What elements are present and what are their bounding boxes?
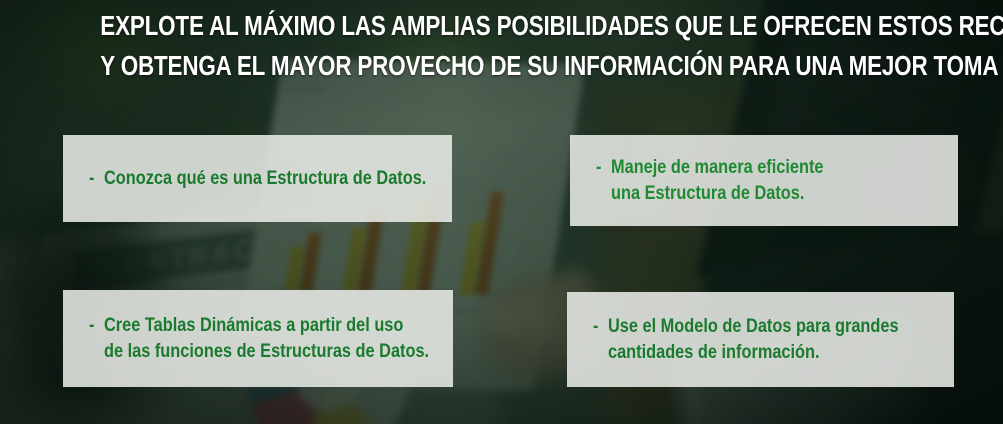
callout-line-1: Cree Tablas Dinámicas a partir del uso <box>104 313 429 339</box>
callout-body: - Maneje de manera eficiente una Estruct… <box>570 155 858 207</box>
callout-body: - Cree Tablas Dinámicas a partir del uso… <box>63 313 482 365</box>
callout-line-2: cantidades de información. <box>608 340 899 366</box>
callout-box-3: - Cree Tablas Dinámicas a partir del uso… <box>63 290 453 387</box>
bullet-dash: - <box>596 155 601 181</box>
callout-line-2: una Estructura de Datos. <box>611 181 824 207</box>
callout-box-2: - Maneje de manera eficiente una Estruct… <box>570 135 958 226</box>
callout-line-1: Maneje de manera eficiente <box>611 155 824 181</box>
callout-text: Cree Tablas Dinámicas a partir del uso d… <box>104 313 482 365</box>
callout-line-1: Conozca qué es una Estructura de Datos. <box>104 166 426 192</box>
callout-body: - Conozca qué es una Estructura de Datos… <box>63 166 479 192</box>
slide-content: EXPLOTE AL MÁXIMO LAS AMPLIAS POSIBILIDA… <box>0 0 1003 424</box>
callout-body: - Use el Modelo de Datos para grandes ca… <box>567 314 946 366</box>
callout-text: Conozca qué es una Estructura de Datos. <box>104 166 479 192</box>
callout-box-1: - Conozca qué es una Estructura de Datos… <box>63 135 452 222</box>
bullet-dash: - <box>89 166 94 192</box>
callout-text: Use el Modelo de Datos para grandes cant… <box>608 314 946 366</box>
headline: EXPLOTE AL MÁXIMO LAS AMPLIAS POSIBILIDA… <box>100 6 902 86</box>
bullet-dash: - <box>89 313 94 339</box>
headline-line-1: EXPLOTE AL MÁXIMO LAS AMPLIAS POSIBILIDA… <box>100 6 902 46</box>
slide-canvas: CONTRACT Reporte Quarter 1 Quarter 2 Qua… <box>0 0 1003 424</box>
bullet-dash: - <box>593 314 598 340</box>
headline-line-2: Y OBTENGA EL MAYOR PROVECHO DE SU INFORM… <box>100 46 902 86</box>
callout-line-1: Use el Modelo de Datos para grandes <box>608 314 899 340</box>
callout-text: Maneje de manera eficiente una Estructur… <box>611 155 858 207</box>
callout-box-4: - Use el Modelo de Datos para grandes ca… <box>567 292 954 387</box>
callout-line-2: de las funciones de Estructuras de Datos… <box>104 339 429 365</box>
